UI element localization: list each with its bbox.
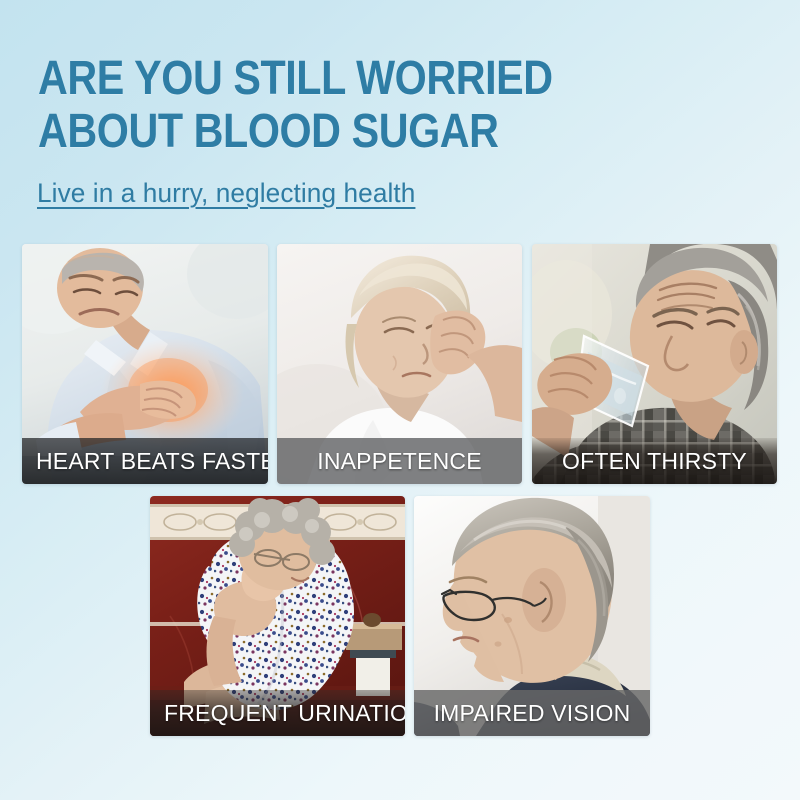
symptom-card-impaired-vision[interactable]: IMPAIRED VISION [414, 496, 650, 736]
symptom-caption-impaired-vision: IMPAIRED VISION [414, 690, 650, 736]
page-title: ARE YOU STILL WORRIED ABOUT BLOOD SUGAR [38, 52, 657, 158]
poster-canvas: ARE YOU STILL WORRIED ABOUT BLOOD SUGAR … [0, 0, 800, 800]
symptom-caption-often-thirsty: OFTEN THIRSTY [532, 438, 777, 484]
symptom-caption-frequent-urination: FREQUENT URINATION [150, 690, 405, 736]
symptom-caption-heart-beats-faster: HEART BEATS FASTER [22, 438, 268, 484]
page-subtitle: Live in a hurry, neglecting health [37, 176, 415, 210]
symptom-caption-inappetence: INAPPETENCE [277, 438, 522, 484]
symptom-card-often-thirsty[interactable]: OFTEN THIRSTY [532, 244, 777, 484]
symptom-card-frequent-urination[interactable]: FREQUENT URINATION [150, 496, 405, 736]
symptom-card-inappetence[interactable]: INAPPETENCE [277, 244, 522, 484]
symptom-card-heart-beats-faster[interactable]: HEART BEATS FASTER [22, 244, 268, 484]
